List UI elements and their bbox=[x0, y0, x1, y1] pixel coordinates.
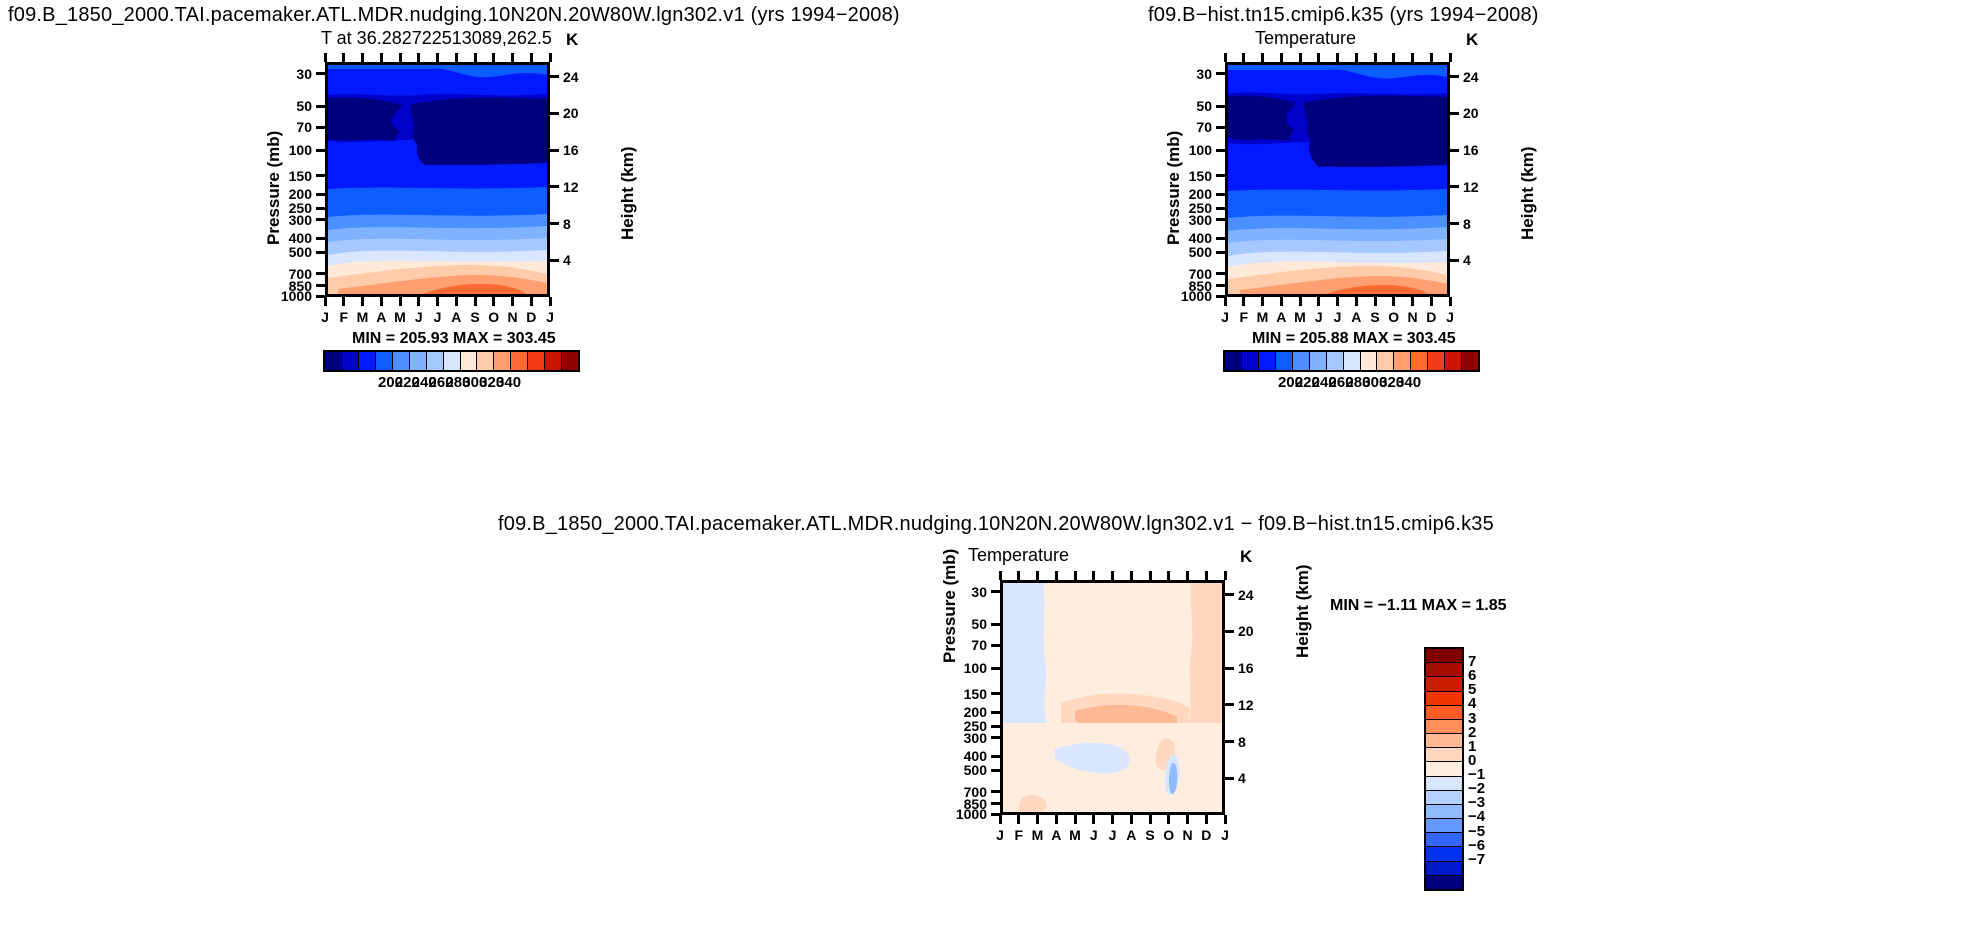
panel-diff-xtick-top bbox=[1167, 571, 1170, 580]
panel-left-xtick-top bbox=[361, 53, 364, 62]
panel-right-ytick-label: 100 bbox=[1189, 142, 1212, 158]
panel-right-xtick-bottom bbox=[1430, 297, 1433, 306]
panel-right-xtick-bottom bbox=[1299, 297, 1302, 306]
panel-left-ytick-label: 30 bbox=[296, 66, 312, 82]
panel-right-y2tick bbox=[1450, 75, 1459, 78]
panel-left-y2tick-label: 12 bbox=[563, 179, 579, 195]
panel-right-xtick-top bbox=[1317, 53, 1320, 62]
panel-right-colorbar-swatch bbox=[1242, 352, 1259, 370]
panel-left-y2tick-label: 16 bbox=[563, 142, 579, 158]
panel-right-y2tick-label: 12 bbox=[1463, 179, 1479, 195]
panel-right-xtick-label: F bbox=[1239, 309, 1248, 325]
panel-diff-colorbar-swatch bbox=[1426, 720, 1462, 734]
panel-left-xtick-top bbox=[474, 53, 477, 62]
panel-diff-ytick bbox=[991, 711, 1000, 714]
panel-diff-colorbar-swatch bbox=[1426, 762, 1462, 776]
panel-diff-xtick-label: A bbox=[1051, 827, 1061, 843]
panel-right-xtick-bottom bbox=[1280, 297, 1283, 306]
panel-diff-ytick bbox=[991, 590, 1000, 593]
panel-right-colorbar-swatch bbox=[1327, 352, 1344, 370]
panel-left-xtick-top bbox=[417, 53, 420, 62]
panel-diff-xtick-bottom bbox=[999, 815, 1002, 824]
panel-left-xtick-label: F bbox=[339, 309, 348, 325]
panel-right-xtick-bottom bbox=[1374, 297, 1377, 306]
panel-right-xtick-bottom bbox=[1355, 297, 1358, 306]
panel-diff-y2tick-label: 16 bbox=[1238, 660, 1254, 676]
panel-diff-colorbar-swatch bbox=[1426, 677, 1462, 691]
panel-left-colorbar-swatch bbox=[393, 352, 410, 370]
panel-left-colorbar-swatch bbox=[528, 352, 545, 370]
panel-diff-ylabel: Pressure (mb) bbox=[940, 549, 960, 663]
panel-left-ytick bbox=[316, 272, 325, 275]
panel-diff-colorbar-swatch bbox=[1426, 862, 1462, 876]
panel-right-xtick-label: J bbox=[1221, 309, 1229, 325]
panel-diff-ytick bbox=[991, 725, 1000, 728]
panel-diff-xtick-bottom bbox=[1055, 815, 1058, 824]
panel-left-xtick-bottom bbox=[324, 297, 327, 306]
panel-left-xtick-top bbox=[342, 53, 345, 62]
panel-right-xtick-top bbox=[1280, 53, 1283, 62]
panel-diff-xtick-top bbox=[1149, 571, 1152, 580]
panel-diff-y2tick-label: 20 bbox=[1238, 623, 1254, 639]
panel-diff-xtick-top bbox=[1092, 571, 1095, 580]
panel-right-y2tick bbox=[1450, 185, 1459, 188]
panel-right-ytick bbox=[1216, 72, 1225, 75]
panel-right-xtick-top bbox=[1392, 53, 1395, 62]
panel-left-xtick-top bbox=[324, 53, 327, 62]
panel-right-ytick-label: 150 bbox=[1189, 168, 1212, 184]
panel-right-colorbar-swatch bbox=[1394, 352, 1411, 370]
panel-left-xtick-label: S bbox=[470, 309, 479, 325]
panel-right-xtick-label: O bbox=[1388, 309, 1399, 325]
panel-right-ytick bbox=[1216, 251, 1225, 254]
panel-left-ytick-label: 500 bbox=[289, 244, 312, 260]
panel-left-ytick bbox=[316, 284, 325, 287]
panel-left-y2label: Height (km) bbox=[618, 147, 638, 241]
panel-diff-xtick-top bbox=[1036, 571, 1039, 580]
panel-left-xtick-label: O bbox=[488, 309, 499, 325]
panel-diff-xtick-label: J bbox=[996, 827, 1004, 843]
panel-diff-ytick-label: 500 bbox=[964, 762, 987, 778]
panel-left-colorbar bbox=[323, 350, 580, 372]
panel-diff-xtick-top bbox=[1186, 571, 1189, 580]
panel-diff-y2tick bbox=[1225, 740, 1234, 743]
panel-diff-xtick-label: J bbox=[1109, 827, 1117, 843]
panel-right-colorbar-swatch bbox=[1445, 352, 1462, 370]
panel-right-ytick bbox=[1216, 272, 1225, 275]
panel-diff-xtick-bottom bbox=[1092, 815, 1095, 824]
panel-left-colorbar-swatch bbox=[427, 352, 444, 370]
panel-right-colorbar bbox=[1223, 350, 1480, 372]
panel-left-colorbar-swatch bbox=[461, 352, 478, 370]
panel-left-xtick-label: A bbox=[376, 309, 386, 325]
panel-right-xtick-label: M bbox=[1257, 309, 1269, 325]
panel-diff-xtick-top bbox=[1111, 571, 1114, 580]
panel-diff-xtick-label: J bbox=[1090, 827, 1098, 843]
panel-left-ytick bbox=[316, 237, 325, 240]
panel-right-xtick-top bbox=[1411, 53, 1414, 62]
panel-left-ytick bbox=[316, 72, 325, 75]
panel-left-xtick-label: M bbox=[357, 309, 369, 325]
panel-right-subtitle: Temperature bbox=[1255, 28, 1356, 49]
panel-diff-ytick-label: 300 bbox=[964, 730, 987, 746]
panel-diff-y2tick bbox=[1225, 667, 1234, 670]
panel-diff-ytick bbox=[991, 755, 1000, 758]
panel-left-ylabel: Pressure (mb) bbox=[264, 131, 284, 245]
panel-diff-xtick-label: N bbox=[1182, 827, 1192, 843]
panel-left-xtick-label: J bbox=[546, 309, 554, 325]
panel-diff-xtick-label: D bbox=[1201, 827, 1211, 843]
panel-right-colorbar-swatch bbox=[1462, 352, 1478, 370]
panel-diff-colorbar-swatch bbox=[1426, 706, 1462, 720]
panel-right-xtick-label: N bbox=[1407, 309, 1417, 325]
panel-left-ytick bbox=[316, 174, 325, 177]
panel-left-xtick-top bbox=[436, 53, 439, 62]
panel-diff-plot bbox=[1000, 580, 1225, 815]
panel-diff-xtick-label: A bbox=[1126, 827, 1136, 843]
panel-right-ytick bbox=[1216, 218, 1225, 221]
panel-left-y2tick-label: 24 bbox=[563, 69, 579, 85]
panel-diff-ytick bbox=[991, 644, 1000, 647]
panel-diff-colorbar-swatch bbox=[1426, 649, 1462, 663]
panel-right-y2label: Height (km) bbox=[1518, 147, 1538, 241]
panel-left-xtick-bottom bbox=[399, 297, 402, 306]
panel-right-xtick-top bbox=[1355, 53, 1358, 62]
panel-left-ytick bbox=[316, 105, 325, 108]
panel-left-colorbar-swatch bbox=[342, 352, 359, 370]
panel-left-colorbar-swatch bbox=[545, 352, 562, 370]
panel-right-xtick-bottom bbox=[1242, 297, 1245, 306]
panel-right-xtick-bottom bbox=[1317, 297, 1320, 306]
panel-diff-xtick-label: M bbox=[1069, 827, 1081, 843]
panel-diff-xtick-bottom bbox=[1074, 815, 1077, 824]
panel-left-xtick-label: J bbox=[415, 309, 423, 325]
panel-diff-xtick-label: J bbox=[1221, 827, 1229, 843]
panel-diff-y2tick-label: 4 bbox=[1238, 770, 1246, 786]
panel-left-xtick-top bbox=[530, 53, 533, 62]
panel-right-colorbar-swatch bbox=[1276, 352, 1293, 370]
panel-left-units: K bbox=[566, 30, 578, 50]
panel-left-xtick-bottom bbox=[511, 297, 514, 306]
panel-diff-ytick-label: 1000 bbox=[956, 806, 987, 822]
panel-right-xtick-label: M bbox=[1294, 309, 1306, 325]
panel-diff-colorbar-swatch bbox=[1426, 833, 1462, 847]
panel-right-y2tick-label: 20 bbox=[1463, 105, 1479, 121]
panel-diff-colorbar-swatch bbox=[1426, 692, 1462, 706]
panel-right-xtick-bottom bbox=[1449, 297, 1452, 306]
panel-left-xtick-bottom bbox=[530, 297, 533, 306]
panel-right-ytick-label: 50 bbox=[1196, 98, 1212, 114]
panel-left-ytick-label: 50 bbox=[296, 98, 312, 114]
panel-right-y2tick-label: 8 bbox=[1463, 216, 1471, 232]
panel-left-colorbar-swatch bbox=[562, 352, 578, 370]
panel-right-colorbar-swatch bbox=[1259, 352, 1276, 370]
panel-right-contours bbox=[1228, 65, 1447, 294]
panel-right-ytick bbox=[1216, 193, 1225, 196]
panel-left-contours bbox=[328, 65, 547, 294]
panel-left-colorbar-swatch bbox=[494, 352, 511, 370]
panel-right-colorbar-swatch bbox=[1377, 352, 1394, 370]
panel-right-y2tick bbox=[1450, 112, 1459, 115]
panel-diff-xtick-bottom bbox=[1036, 815, 1039, 824]
panel-left-y2tick bbox=[550, 75, 559, 78]
panel-diff-xtick-label: M bbox=[1032, 827, 1044, 843]
panel-diff-xtick-bottom bbox=[1167, 815, 1170, 824]
panel-diff-xtick-top bbox=[1074, 571, 1077, 580]
panel-right-xtick-label: S bbox=[1370, 309, 1379, 325]
panel-right-xtick-top bbox=[1224, 53, 1227, 62]
panel-right-xtick-label: J bbox=[1334, 309, 1342, 325]
panel-left-xtick-bottom bbox=[455, 297, 458, 306]
panel-diff-y2tick-label: 8 bbox=[1238, 734, 1246, 750]
panel-diff-xtick-bottom bbox=[1111, 815, 1114, 824]
panel-diff-ytick bbox=[991, 736, 1000, 739]
panel-left-colorbar-swatch bbox=[477, 352, 494, 370]
panel-right-ytick bbox=[1216, 237, 1225, 240]
panel-diff-xtick-top bbox=[1130, 571, 1133, 580]
panel-right-colorbar-swatch bbox=[1411, 352, 1428, 370]
panel-right-y2tick bbox=[1450, 149, 1459, 152]
panel-diff-colorbar-label: −7 bbox=[1468, 851, 1485, 868]
panel-right-xtick-bottom bbox=[1261, 297, 1264, 306]
panel-left-ytick-label: 70 bbox=[296, 119, 312, 135]
panel-diff-xtick-bottom bbox=[1224, 815, 1227, 824]
panel-diff-xtick-top bbox=[999, 571, 1002, 580]
panel-left-y2tick-label: 20 bbox=[563, 105, 579, 121]
panel-diff-ytick-label: 30 bbox=[971, 584, 987, 600]
panel-right-title: f09.B−hist.tn15.cmip6.k35 (yrs 1994−2008… bbox=[1148, 4, 1539, 27]
panel-diff-colorbar-swatch bbox=[1426, 663, 1462, 677]
panel-left-xtick-label: J bbox=[321, 309, 329, 325]
panel-right-colorbar-swatch bbox=[1293, 352, 1310, 370]
panel-right-xtick-top bbox=[1299, 53, 1302, 62]
panel-diff-ytick bbox=[991, 623, 1000, 626]
panel-right-ytick-label: 500 bbox=[1189, 244, 1212, 260]
panel-left-y2tick bbox=[550, 149, 559, 152]
panel-diff-minmax: MIN = −1.11 MAX = 1.85 bbox=[1330, 597, 1507, 615]
panel-left-ytick-label: 150 bbox=[289, 168, 312, 184]
panel-left-xtick-label: M bbox=[394, 309, 406, 325]
panel-left-xtick-top bbox=[549, 53, 552, 62]
panel-right-ytick bbox=[1216, 207, 1225, 210]
panel-right-xtick-top bbox=[1261, 53, 1264, 62]
panel-left-xtick-bottom bbox=[417, 297, 420, 306]
panel-left-ytick-label: 100 bbox=[289, 142, 312, 158]
panel-diff-ytick-label: 70 bbox=[971, 637, 987, 653]
panel-right-minmax: MIN = 205.88 MAX = 303.45 bbox=[1252, 330, 1456, 348]
panel-right-y2tick bbox=[1450, 259, 1459, 262]
panel-right-ytick bbox=[1216, 126, 1225, 129]
panel-left-xtick-top bbox=[455, 53, 458, 62]
panel-left-ytick bbox=[316, 126, 325, 129]
panel-right-xtick-top bbox=[1242, 53, 1245, 62]
panel-diff-xtick-top bbox=[1017, 571, 1020, 580]
panel-diff-colorbar-swatch bbox=[1426, 876, 1462, 889]
panel-right-xtick-bottom bbox=[1224, 297, 1227, 306]
panel-diff-colorbar-swatch bbox=[1426, 734, 1462, 748]
panel-diff-xtick-label: F bbox=[1014, 827, 1023, 843]
panel-left-xtick-top bbox=[399, 53, 402, 62]
panel-left-xtick-top bbox=[492, 53, 495, 62]
panel-diff-xtick-top bbox=[1055, 571, 1058, 580]
panel-left-plot bbox=[325, 62, 550, 297]
panel-left-y2tick-label: 8 bbox=[563, 216, 571, 232]
panel-left-xtick-bottom bbox=[492, 297, 495, 306]
panel-left-xtick-label: D bbox=[526, 309, 536, 325]
panel-diff-colorbar-swatch bbox=[1426, 819, 1462, 833]
panel-right-xtick-top bbox=[1374, 53, 1377, 62]
panel-diff-y2tick bbox=[1225, 703, 1234, 706]
panel-left-colorbar-swatch bbox=[511, 352, 528, 370]
panel-diff-xtick-bottom bbox=[1149, 815, 1152, 824]
panel-diff-colorbar-swatch bbox=[1426, 847, 1462, 861]
panel-right-ytick-label: 1000 bbox=[1181, 288, 1212, 304]
panel-right-ylabel: Pressure (mb) bbox=[1164, 131, 1184, 245]
panel-diff-xtick-bottom bbox=[1186, 815, 1189, 824]
panel-right-colorbar-swatch bbox=[1361, 352, 1378, 370]
panel-diff-colorbar-swatch bbox=[1426, 791, 1462, 805]
panel-right-ytick-label: 300 bbox=[1189, 212, 1212, 228]
panel-left-title: f09.B_1850_2000.TAI.pacemaker.ATL.MDR.nu… bbox=[8, 4, 900, 27]
panel-left-ytick bbox=[316, 193, 325, 196]
panel-diff-y2tick-label: 12 bbox=[1238, 697, 1254, 713]
panel-right-y2tick-label: 4 bbox=[1463, 252, 1471, 268]
panel-diff-xtick-top bbox=[1224, 571, 1227, 580]
panel-left-xtick-top bbox=[380, 53, 383, 62]
panel-diff-y2tick bbox=[1225, 593, 1234, 596]
panel-left-colorbar-swatch bbox=[359, 352, 376, 370]
panel-left-colorbar-swatch bbox=[325, 352, 342, 370]
panel-left-ytick bbox=[316, 251, 325, 254]
panel-right-colorbar-swatch bbox=[1344, 352, 1361, 370]
panel-diff-colorbar-swatch bbox=[1426, 777, 1462, 791]
panel-left-xtick-bottom bbox=[361, 297, 364, 306]
panel-left-y2tick bbox=[550, 185, 559, 188]
panel-left-xtick-bottom bbox=[549, 297, 552, 306]
panel-left-y2tick-label: 4 bbox=[563, 252, 571, 268]
panel-left-xtick-bottom bbox=[474, 297, 477, 306]
panel-diff-colorbar-swatch bbox=[1426, 805, 1462, 819]
panel-diff-colorbar-swatch bbox=[1426, 748, 1462, 762]
panel-diff-ytick bbox=[991, 692, 1000, 695]
panel-right-plot bbox=[1225, 62, 1450, 297]
panel-right-xtick-bottom bbox=[1336, 297, 1339, 306]
panel-left-y2tick bbox=[550, 222, 559, 225]
panel-left-xtick-label: J bbox=[434, 309, 442, 325]
panel-left-xtick-top bbox=[511, 53, 514, 62]
panel-diff-ytick bbox=[991, 790, 1000, 793]
panel-diff-ytick-label: 50 bbox=[971, 616, 987, 632]
panel-left-colorbar-swatch bbox=[410, 352, 427, 370]
panel-left-ytick bbox=[316, 149, 325, 152]
panel-right-ytick bbox=[1216, 105, 1225, 108]
panel-diff-xtick-label: S bbox=[1145, 827, 1154, 843]
panel-diff-y2tick bbox=[1225, 630, 1234, 633]
panel-right-xtick-bottom bbox=[1392, 297, 1395, 306]
panel-diff-ytick-label: 150 bbox=[964, 686, 987, 702]
panel-left-xtick-label: N bbox=[507, 309, 517, 325]
panel-right-xtick-top bbox=[1336, 53, 1339, 62]
panel-right-ytick-label: 70 bbox=[1196, 119, 1212, 135]
panel-right-xtick-bottom bbox=[1411, 297, 1414, 306]
panel-left-ytick bbox=[316, 207, 325, 210]
panel-left-xtick-bottom bbox=[436, 297, 439, 306]
panel-diff-xtick-top bbox=[1205, 571, 1208, 580]
panel-diff-units: K bbox=[1240, 547, 1252, 567]
panel-diff-y2tick-label: 24 bbox=[1238, 587, 1254, 603]
panel-right-y2tick-label: 16 bbox=[1463, 142, 1479, 158]
panel-right-xtick-label: A bbox=[1351, 309, 1361, 325]
panel-left-minmax: MIN = 205.93 MAX = 303.45 bbox=[352, 330, 556, 348]
panel-left-ytick-label: 300 bbox=[289, 212, 312, 228]
panel-right-xtick-label: J bbox=[1446, 309, 1454, 325]
panel-diff-ytick bbox=[991, 667, 1000, 670]
panel-diff-xtick-bottom bbox=[1205, 815, 1208, 824]
panel-right-colorbar-swatch bbox=[1428, 352, 1445, 370]
panel-right-xtick-top bbox=[1449, 53, 1452, 62]
panel-diff-ytick-label: 100 bbox=[964, 660, 987, 676]
panel-left-ytick bbox=[316, 218, 325, 221]
panel-right-y2tick bbox=[1450, 222, 1459, 225]
panel-right-ytick bbox=[1216, 284, 1225, 287]
panel-left-colorbar-swatch bbox=[376, 352, 393, 370]
panel-right-xtick-label: A bbox=[1276, 309, 1286, 325]
panel-right-ytick bbox=[1216, 174, 1225, 177]
panel-right-xtick-label: J bbox=[1315, 309, 1323, 325]
panel-right-colorbar-swatch bbox=[1225, 352, 1242, 370]
panel-right-xtick-label: D bbox=[1426, 309, 1436, 325]
panel-right-colorbar-label: 340 bbox=[1396, 374, 1421, 391]
panel-left-colorbar-label: 340 bbox=[496, 374, 521, 391]
panel-left-xtick-bottom bbox=[342, 297, 345, 306]
panel-right-ytick bbox=[1216, 149, 1225, 152]
panel-right-units: K bbox=[1466, 30, 1478, 50]
panel-diff-subtitle: Temperature bbox=[968, 545, 1069, 566]
panel-left-xtick-bottom bbox=[380, 297, 383, 306]
panel-left-ytick-label: 1000 bbox=[281, 288, 312, 304]
panel-diff-contours bbox=[1003, 583, 1222, 812]
panel-left-y2tick bbox=[550, 259, 559, 262]
panel-diff-xtick-bottom bbox=[1017, 815, 1020, 824]
panel-right-ytick-label: 30 bbox=[1196, 66, 1212, 82]
panel-diff-y2tick bbox=[1225, 777, 1234, 780]
panel-diff-ytick bbox=[991, 802, 1000, 805]
panel-right-y2tick-label: 24 bbox=[1463, 69, 1479, 85]
panel-diff-title: f09.B_1850_2000.TAI.pacemaker.ATL.MDR.nu… bbox=[498, 513, 1494, 536]
panel-diff-xtick-bottom bbox=[1130, 815, 1133, 824]
panel-left-colorbar-swatch bbox=[444, 352, 461, 370]
panel-diff-xtick-label: O bbox=[1163, 827, 1174, 843]
panel-left-y2tick bbox=[550, 112, 559, 115]
panel-right-colorbar-swatch bbox=[1310, 352, 1327, 370]
panel-diff-y2label: Height (km) bbox=[1293, 565, 1313, 659]
panel-right-xtick-top bbox=[1430, 53, 1433, 62]
panel-left-xtick-label: A bbox=[451, 309, 461, 325]
panel-left-subtitle: T at 36.282722513089,262.5 bbox=[321, 28, 552, 49]
panel-diff-colorbar bbox=[1424, 647, 1464, 891]
panel-diff-ytick bbox=[991, 769, 1000, 772]
